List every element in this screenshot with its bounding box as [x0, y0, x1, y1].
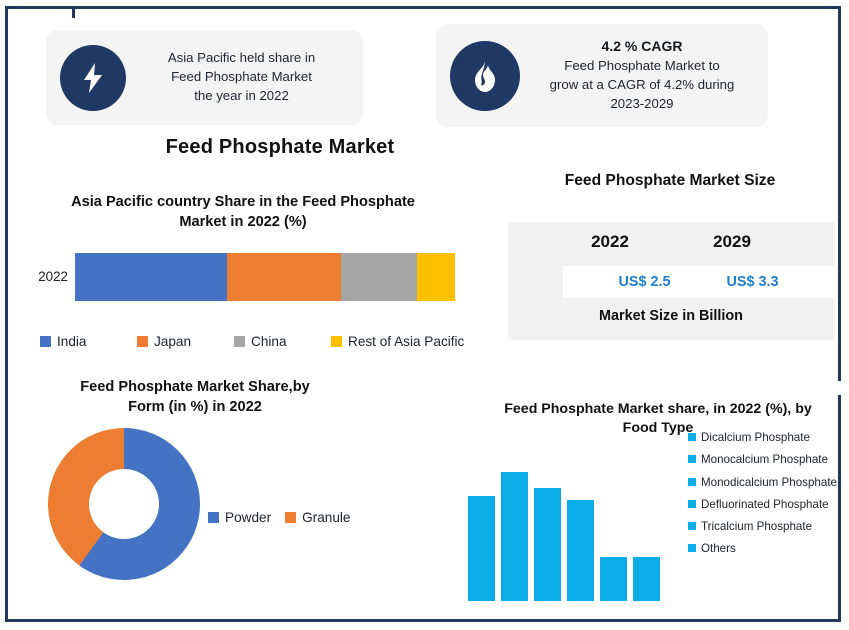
donut-center-hole [89, 469, 159, 539]
donut-chart-title: Feed Phosphate Market Share,by Form (in … [30, 378, 360, 417]
card-left-line2: Feed Phosphate Market [132, 68, 351, 87]
legend-swatch-icon [688, 455, 696, 463]
bars-legend-item-monodicalcium-phosphate: Monodicalcium Phosphate [688, 475, 848, 490]
bars-legend-item-others: Others [688, 541, 848, 556]
donut-title-line2: Form (in %) in 2022 [30, 398, 360, 418]
stacked-bar-track [75, 253, 455, 301]
stacked-segment-india [75, 253, 227, 301]
legend-label: Dicalcium Phosphate [701, 430, 810, 445]
lightning-bolt-icon [60, 45, 126, 111]
bars-title-line1: Feed Phosphate Market share, in 2022 (%)… [470, 400, 846, 419]
cagr-headline: 4.2 % CAGR [526, 37, 758, 57]
legend-swatch-icon [688, 500, 696, 508]
frame-top-notch [72, 9, 75, 18]
donut-legend-item-powder: Powder [208, 510, 271, 525]
market-size-year-2022: 2022 [567, 232, 653, 252]
market-size-value-2022: US$ 2.5 [602, 274, 688, 290]
bars-legend-item-tricalcium-phosphate: Tricalcium Phosphate [688, 519, 848, 534]
legend-item-rest-of-asia-pacific: Rest of Asia Pacific [331, 334, 481, 349]
legend-swatch-icon [688, 433, 696, 441]
card-right-line3: 2023-2029 [526, 95, 758, 114]
page-title: Feed Phosphate Market [0, 136, 560, 159]
bars-legend-item-dicalcium-phosphate: Dicalcium Phosphate [688, 430, 848, 445]
donut-title-line1: Feed Phosphate Market Share,by [30, 378, 360, 398]
food-type-bar-chart [468, 460, 668, 601]
stacked-segment-china [341, 253, 417, 301]
legend-label: Granule [302, 510, 350, 525]
bar-monodicalcium-phosphate [534, 488, 561, 601]
legend-swatch-icon [331, 336, 342, 347]
legend-label: Rest of Asia Pacific [348, 334, 464, 349]
info-card-cagr: 4.2 % CAGR Feed Phosphate Market to grow… [436, 24, 768, 127]
legend-swatch-icon [688, 544, 696, 552]
donut-legend-item-granule: Granule [285, 510, 350, 525]
legend-label: India [57, 334, 86, 349]
legend-swatch-icon [688, 478, 696, 486]
flame-icon [450, 41, 520, 111]
info-card-right-text: 4.2 % CAGR Feed Phosphate Market to grow… [520, 37, 758, 113]
bar-defluorinated-phosphate [567, 500, 594, 601]
stacked-bar-chart: 2022 [20, 253, 460, 305]
stacked-category-label: 2022 [20, 269, 68, 284]
legend-swatch-icon [688, 522, 696, 530]
stacked-segment-japan [227, 253, 341, 301]
bar-tricalcium-phosphate [600, 557, 627, 601]
legend-label: Powder [225, 510, 271, 525]
legend-swatch-icon [40, 336, 51, 347]
legend-label: Japan [154, 334, 191, 349]
legend-label: Others [701, 541, 736, 556]
stacked-chart-legend: IndiaJapanChinaRest of Asia Pacific [40, 334, 490, 349]
bar-others [633, 557, 660, 601]
donut-chart [48, 428, 200, 580]
market-size-value-2029: US$ 3.3 [710, 274, 796, 290]
legend-swatch-icon [285, 512, 296, 523]
card-right-line1: Feed Phosphate Market to [526, 57, 758, 76]
legend-label: Defluorinated Phosphate [701, 497, 829, 512]
info-card-left-text: Asia Pacific held share in Feed Phosphat… [126, 49, 351, 105]
card-left-line1: Asia Pacific held share in [132, 49, 351, 68]
legend-swatch-icon [137, 336, 148, 347]
legend-label: Monodicalcium Phosphate [701, 475, 837, 490]
bar-monocalcium-phosphate [501, 472, 528, 601]
stacked-title-line2: Market in 2022 (%) [26, 213, 460, 233]
market-size-footer: Market Size in Billion [508, 308, 834, 324]
bars-legend-item-defluorinated-phosphate: Defluorinated Phosphate [688, 497, 848, 512]
legend-item-china: China [234, 334, 331, 349]
market-size-title: Feed Phosphate Market Size [505, 170, 835, 191]
stacked-title-line1: Asia Pacific country Share in the Feed P… [26, 193, 460, 213]
legend-label: Tricalcium Phosphate [701, 519, 812, 534]
market-size-table: 2022 2029 US$ 2.5 US$ 3.3 Market Size in… [508, 222, 834, 340]
legend-label: China [251, 334, 287, 349]
bar-dicalcium-phosphate [468, 496, 495, 601]
card-right-line2: grow at a CAGR of 4.2% during [526, 76, 758, 95]
market-size-year-row: 2022 2029 [508, 232, 834, 252]
legend-swatch-icon [208, 512, 219, 523]
legend-item-india: India [40, 334, 137, 349]
legend-label: Monocalcium Phosphate [701, 452, 828, 467]
info-card-asia-pacific: Asia Pacific held share in Feed Phosphat… [46, 30, 363, 125]
card-left-line3: the year in 2022 [132, 87, 351, 106]
frame-right-gap [836, 381, 841, 395]
legend-item-japan: Japan [137, 334, 234, 349]
bars-legend-item-monocalcium-phosphate: Monocalcium Phosphate [688, 452, 848, 467]
market-size-year-2029: 2029 [689, 232, 775, 252]
legend-swatch-icon [234, 336, 245, 347]
donut-chart-legend: PowderGranule [208, 510, 350, 525]
market-size-value-row: US$ 2.5 US$ 3.3 [563, 266, 834, 298]
food-type-chart-legend: Dicalcium PhosphateMonocalcium Phosphate… [688, 430, 848, 564]
stacked-chart-title: Asia Pacific country Share in the Feed P… [26, 193, 460, 232]
stacked-segment-rest-of-asia-pacific [417, 253, 455, 301]
